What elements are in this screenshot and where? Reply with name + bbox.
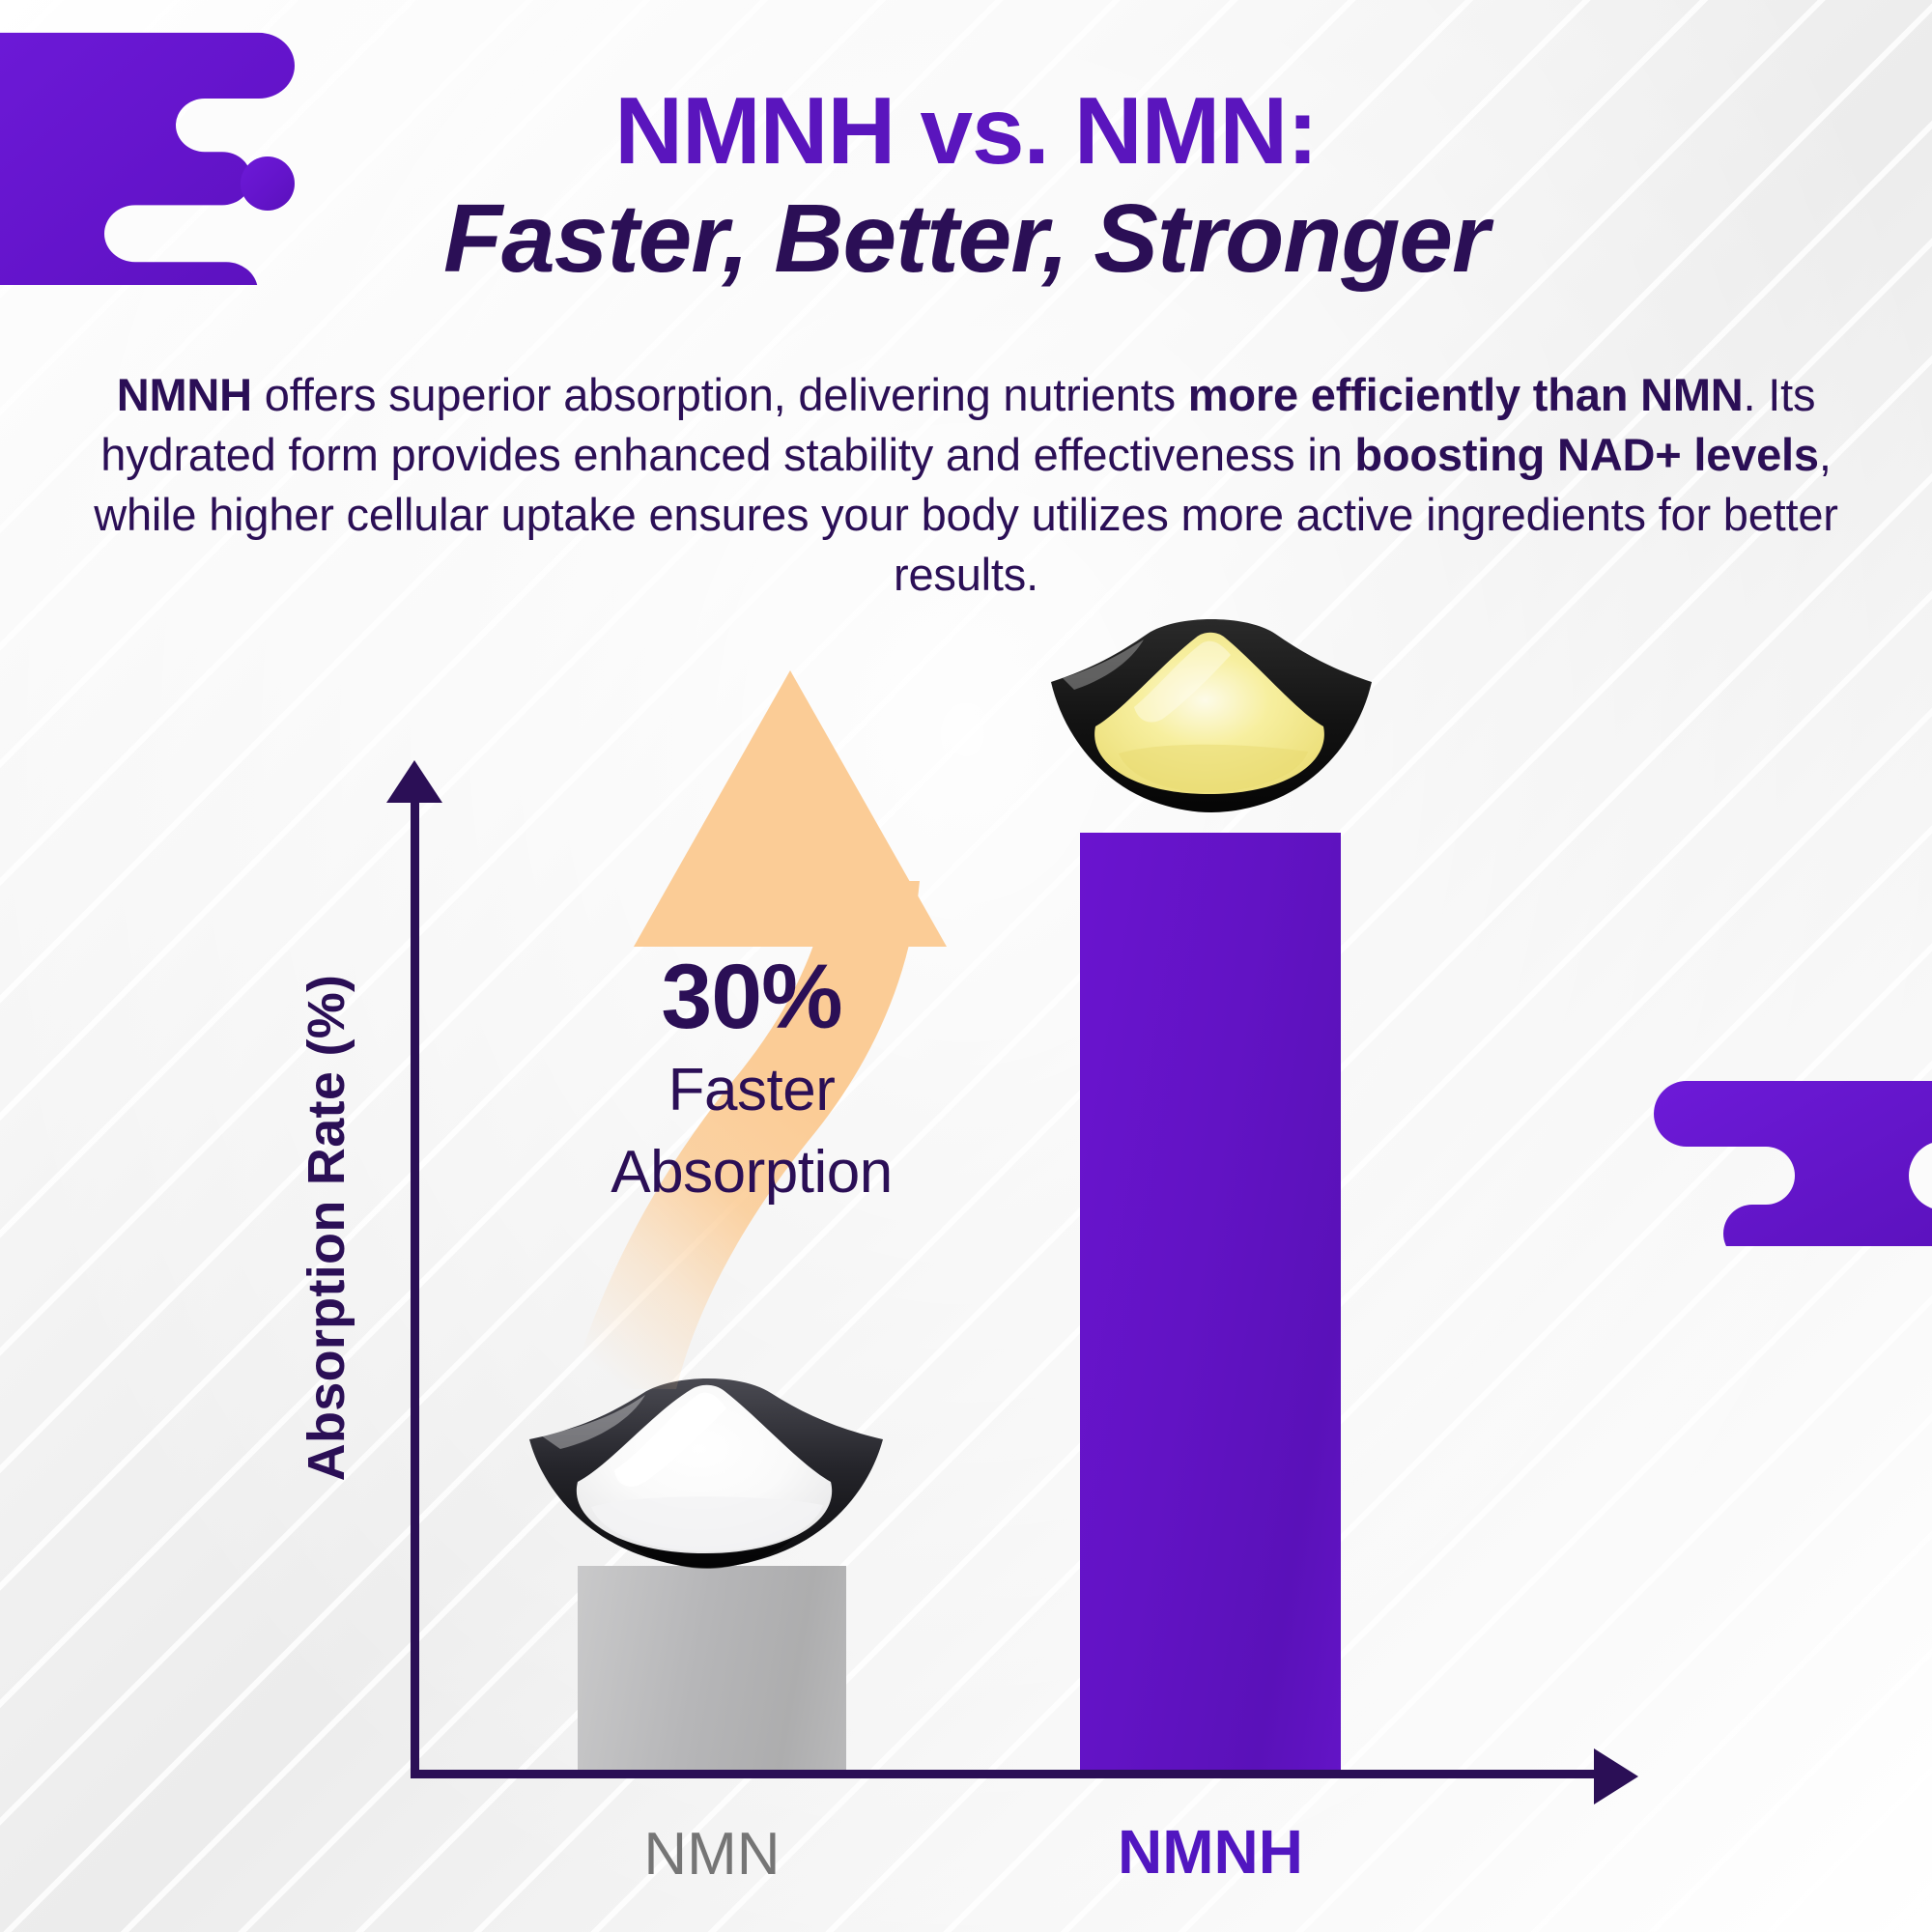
y-axis-arrowhead-icon <box>386 760 442 803</box>
callout-percent-value: 30% <box>558 952 945 1043</box>
callout-30-percent-faster: 30% Faster Absorption <box>558 952 945 1207</box>
y-axis-line <box>411 787 419 1777</box>
nmn-powder-image <box>522 1370 891 1575</box>
callout-line-absorption: Absorption <box>558 1137 945 1207</box>
absorption-bar-chart: Absorption Rate (%) NMN NMNH <box>0 0 1932 1932</box>
bar-nmn <box>578 1566 846 1770</box>
x-axis-line <box>411 1770 1599 1778</box>
callout-line-faster: Faster <box>558 1055 945 1125</box>
x-axis-arrowhead-icon <box>1594 1748 1638 1804</box>
x-tick-label-nmnh: NMNH <box>1070 1816 1350 1888</box>
y-axis-label: Absorption Rate (%) <box>297 890 356 1566</box>
x-tick-label-nmn: NMN <box>578 1820 846 1889</box>
